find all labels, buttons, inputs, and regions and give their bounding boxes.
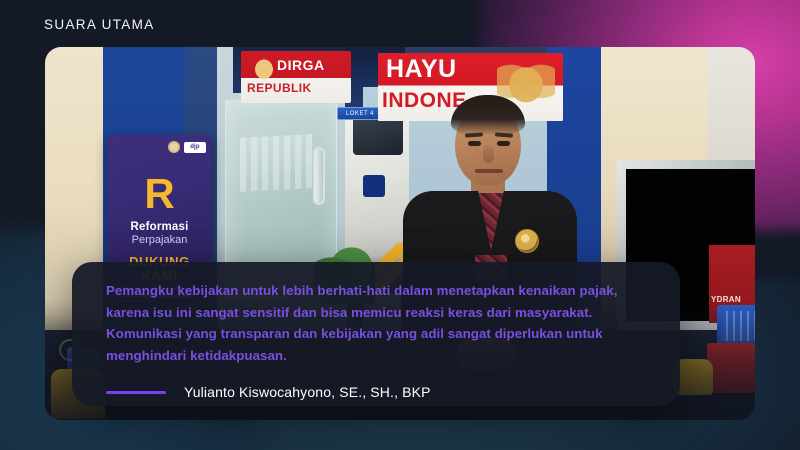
ministry-logo-icon	[168, 141, 180, 153]
photo-kiosk-screen	[353, 115, 403, 155]
subject-eye-right	[497, 141, 510, 146]
subject-mouth	[475, 169, 503, 173]
photo-banner-title-line1: Reformasi	[107, 221, 212, 233]
photo-door-handle	[313, 147, 325, 205]
subject-gold-emblem-icon	[515, 229, 539, 253]
photo-poster-left-line1: DIRGA	[277, 57, 325, 73]
photo-banner-brand-letter: R	[144, 173, 174, 215]
djp-logo-icon: djp	[184, 142, 206, 153]
photo-red-banner-line1: HAYU	[386, 55, 457, 84]
photo-banner-logos: djp	[168, 141, 206, 153]
garuda-emblem-icon	[251, 55, 277, 81]
quote-text: Pemangku kebijakan untuk lebih berhati-h…	[106, 280, 646, 366]
photo-banner-title-line2: Perpajakan	[107, 234, 212, 246]
photo-poster-left-line2: REPUBLIK	[247, 81, 312, 95]
photo-kiosk-logo	[363, 175, 385, 197]
quote-attribution: Yulianto Kiswocahyono, SE., SH., BKP	[106, 384, 646, 400]
header: SUARA UTAMA	[44, 8, 155, 40]
photo-glass-etching	[240, 134, 312, 192]
quote-card: Pemangku kebijakan untuk lebih berhati-h…	[72, 262, 680, 406]
attribution-name: Yulianto Kiswocahyono, SE., SH., BKP	[184, 384, 431, 400]
header-title: SUARA UTAMA	[44, 17, 155, 32]
subject-hair	[451, 95, 525, 135]
subject-nose	[483, 145, 494, 163]
photo-counter-sign: LOKET 4	[337, 107, 383, 120]
attribution-dash-icon	[106, 391, 166, 394]
quote-card-graphic: SUARA UTAMA djp R Reformasi	[0, 0, 800, 450]
subject-eye-left	[468, 141, 481, 146]
